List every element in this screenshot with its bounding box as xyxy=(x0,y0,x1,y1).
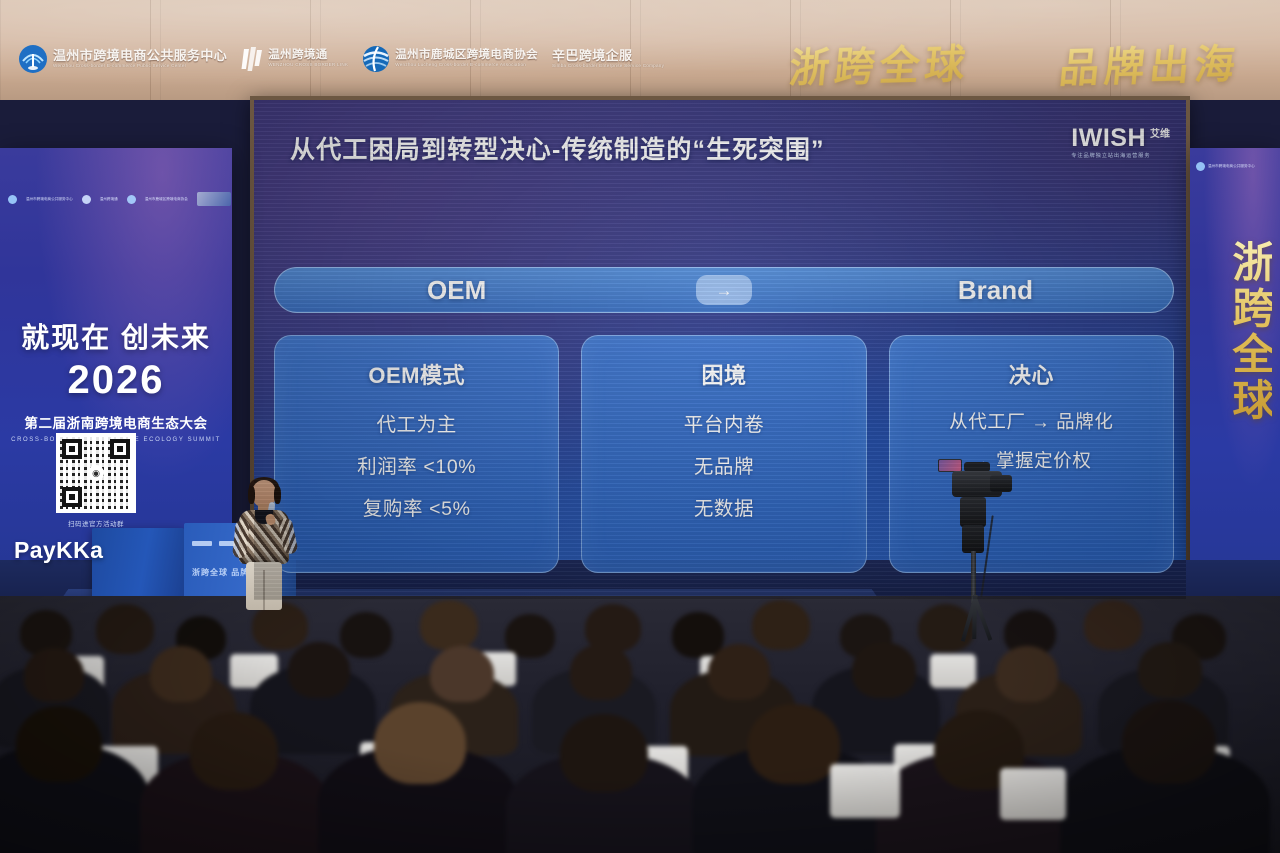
sponsor-lucheng-association: 温州市鹿城区跨境电商协会 Wenzhou Lucheng Cross-borde… xyxy=(362,45,538,73)
sponsor-name-en: Simba Cross-border Enterprise Service Co… xyxy=(552,64,664,69)
qr-finder-icon xyxy=(110,439,130,459)
right-event-banner: 温州市跨境电商公共服务中心 浙跨全球 xyxy=(1190,148,1280,578)
banner-headline: 就现在 创未来 xyxy=(0,316,232,356)
sponsor-name-cn: 辛巴跨境企服 xyxy=(552,49,664,62)
flow-arrow-chip: → xyxy=(696,275,752,305)
banner-year: 2026 xyxy=(0,360,232,400)
card-line: 利润率 <10% xyxy=(285,450,548,479)
qr-finder-icon xyxy=(62,487,82,507)
card-line: 代工为主 xyxy=(285,408,548,437)
presentation-slide: 从代工困局到转型决心-传统制造的“生死突围” IWISH 艾维 专注品牌独立站出… xyxy=(254,100,1186,600)
sponsor-name-en: Wenzhou Lucheng Cross-border E-commerce … xyxy=(395,63,538,68)
right-banner-calligraphy: 浙跨全球 xyxy=(1206,240,1272,424)
speaker-hair-side xyxy=(248,486,255,504)
card-line: 平台内卷 xyxy=(592,408,855,437)
camera-mount xyxy=(960,497,986,527)
banner-right-logo: 温州市跨境电商公共服务中心 xyxy=(1196,162,1255,171)
brand-name-cn: 艾维 xyxy=(1150,126,1170,142)
brand-name: IWISH xyxy=(1071,126,1146,151)
card-line: 无数据 xyxy=(592,492,855,521)
wz-monogram-icon xyxy=(241,46,263,72)
banner-sponsor-logos: 温州市跨境电商公共服务中心 温州跨境通 温州市鹿城区跨境电商协会 xyxy=(8,192,231,206)
sponsor-name-cn: 温州市跨境电商公共服务中心 xyxy=(53,49,227,62)
presenter-speaker xyxy=(228,480,300,610)
qr-center-logo-icon: ◉ xyxy=(88,465,104,481)
qr-code-block[interactable]: ◉ 扫码进官方活动群 xyxy=(56,433,136,528)
banner-logo-text: 温州市跨境电商公共服务中心 xyxy=(26,197,73,202)
banner-logo-text: 温州跨境通 xyxy=(100,197,118,202)
banner-headline-block: 就现在 创未来 2026 第二届浙南跨境电商生态大会 CROSS-BORDER … xyxy=(0,316,232,443)
speaker-trousers xyxy=(246,562,282,610)
slide-card-group: OEM模式 代工为主 利润率 <10% 复购率 <5% 困境 平台内卷 无品牌 … xyxy=(274,335,1174,573)
wall-calligraphy-zhekuaquanqiu: 浙跨全球 xyxy=(787,32,973,94)
sponsor-name-cn: 温州跨境通 xyxy=(268,50,348,62)
camera-lens-icon xyxy=(990,475,1012,492)
slide-title: 从代工困局到转型决心-传统制造的“生死突围” xyxy=(290,130,825,166)
globe-swoosh-icon xyxy=(127,195,136,204)
wz-monogram-icon xyxy=(82,195,91,204)
banner-subtitle: 第二届浙南跨境电商生态大会 xyxy=(0,412,232,432)
sponsor-name-cn: 温州市鹿城区跨境电商协会 xyxy=(395,50,538,62)
audience-area xyxy=(0,596,1280,853)
led-screen-frame: 从代工困局到转型决心-传统制造的“生死突围” IWISH 艾维 专注品牌独立站出… xyxy=(250,96,1190,604)
flow-to-label: Brand xyxy=(958,275,1033,306)
qr-finder-icon xyxy=(62,439,82,459)
fountain-logo-icon xyxy=(1196,162,1205,171)
fountain-logo-icon xyxy=(18,44,48,74)
card-line: 复购率 <5% xyxy=(285,492,548,521)
audience-vignette xyxy=(0,596,1280,853)
arrow-right-icon: → xyxy=(716,282,733,299)
sponsor-simba-enterprise-service: 辛巴跨境企服 Simba Cross-border Enterprise Ser… xyxy=(552,49,664,69)
banner-right-logo-text: 温州市跨境电商公共服务中心 xyxy=(1208,164,1255,169)
paykka-logo: PayKKa xyxy=(14,537,103,564)
iwish-brand-logo: IWISH 艾维 专注品牌独立站出海运营服务 xyxy=(1071,126,1170,151)
flow-from-label: OEM xyxy=(427,275,486,306)
broadcast-camera-rig xyxy=(938,455,1024,640)
sponsor-logo-strip: 温州市跨境电商公共服务中心 Wenzhou Cross-border E-com… xyxy=(18,44,664,74)
tripod-head xyxy=(962,525,984,553)
fountain-logo-icon xyxy=(8,195,17,204)
card-title: 困境 xyxy=(592,358,855,390)
card-line: 从代工厂 → 品牌化 xyxy=(900,408,1163,434)
sponsor-name-en: WENZHOU CROSS BORDER LINK xyxy=(268,63,348,68)
card-title: 决心 xyxy=(900,358,1163,390)
card-title: OEM模式 xyxy=(285,358,548,390)
speaker-hair-side xyxy=(274,486,281,504)
card-line: 无品牌 xyxy=(592,450,855,479)
sponsor-name-en: Wenzhou Cross-border E-commerce Public S… xyxy=(53,64,227,69)
slide-card-oem-mode: OEM模式 代工为主 利润率 <10% 复购率 <5% xyxy=(274,335,559,573)
slide-card-dilemma: 困境 平台内卷 无品牌 无数据 xyxy=(581,335,866,573)
banner-logo-text: 温州市鹿城区跨境电商协会 xyxy=(145,197,188,202)
podium-logo-icon xyxy=(192,541,212,546)
qr-code[interactable]: ◉ xyxy=(56,433,136,513)
tripod-leg xyxy=(972,595,977,639)
sponsor-wenzhou-cross-border-link: 温州跨境通 WENZHOU CROSS BORDER LINK xyxy=(241,46,348,72)
wall-calligraphy-pinpaichuhai: 品牌出海 xyxy=(1057,32,1243,94)
partner-logo-icon xyxy=(197,192,231,206)
sponsor-wenzhou-cbec-center: 温州市跨境电商公共服务中心 Wenzhou Cross-border E-com… xyxy=(18,44,227,74)
conference-photo: 温州市跨境电商公共服务中心 Wenzhou Cross-border E-com… xyxy=(0,0,1280,853)
globe-swoosh-icon xyxy=(362,45,390,73)
slide-card-resolve: 决心 从代工厂 → 品牌化 → 掌握定价权 xyxy=(889,335,1174,573)
qr-caption: 扫码进官方活动群 xyxy=(56,518,136,528)
brand-tagline: 专注品牌独立站出海运营服务 xyxy=(1071,152,1150,159)
oem-to-brand-flow-bar: OEM → Brand xyxy=(274,267,1174,313)
